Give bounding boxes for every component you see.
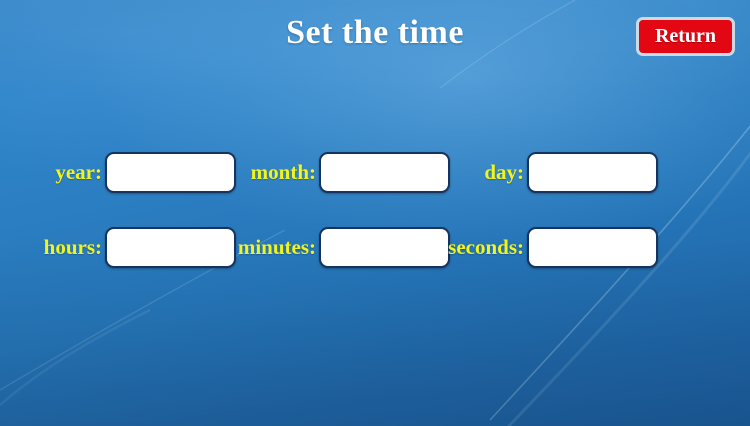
field-group-hours: hours: bbox=[0, 225, 236, 269]
hours-input[interactable] bbox=[105, 227, 236, 268]
field-label-month: month: bbox=[251, 160, 316, 185]
field-group-seconds: seconds: bbox=[458, 225, 658, 269]
set-time-screen: Set the time Return year: month: day: ho… bbox=[0, 0, 750, 426]
seconds-input[interactable] bbox=[527, 227, 658, 268]
field-label-hours: hours: bbox=[44, 235, 102, 260]
background-vignette bbox=[0, 0, 750, 426]
field-label-day: day: bbox=[484, 160, 524, 185]
time-row: hours: minutes: seconds: bbox=[0, 225, 750, 269]
field-group-day: day: bbox=[458, 150, 658, 194]
date-row: year: month: day: bbox=[0, 150, 750, 194]
return-button[interactable]: Return bbox=[636, 17, 735, 56]
day-input[interactable] bbox=[527, 152, 658, 193]
field-label-minutes: minutes: bbox=[238, 235, 316, 260]
field-label-year: year: bbox=[55, 160, 102, 185]
year-input[interactable] bbox=[105, 152, 236, 193]
field-group-year: year: bbox=[0, 150, 236, 194]
field-group-month: month: bbox=[243, 150, 450, 194]
minutes-input[interactable] bbox=[319, 227, 450, 268]
month-input[interactable] bbox=[319, 152, 450, 193]
field-label-seconds: seconds: bbox=[448, 235, 524, 260]
field-group-minutes: minutes: bbox=[243, 225, 450, 269]
